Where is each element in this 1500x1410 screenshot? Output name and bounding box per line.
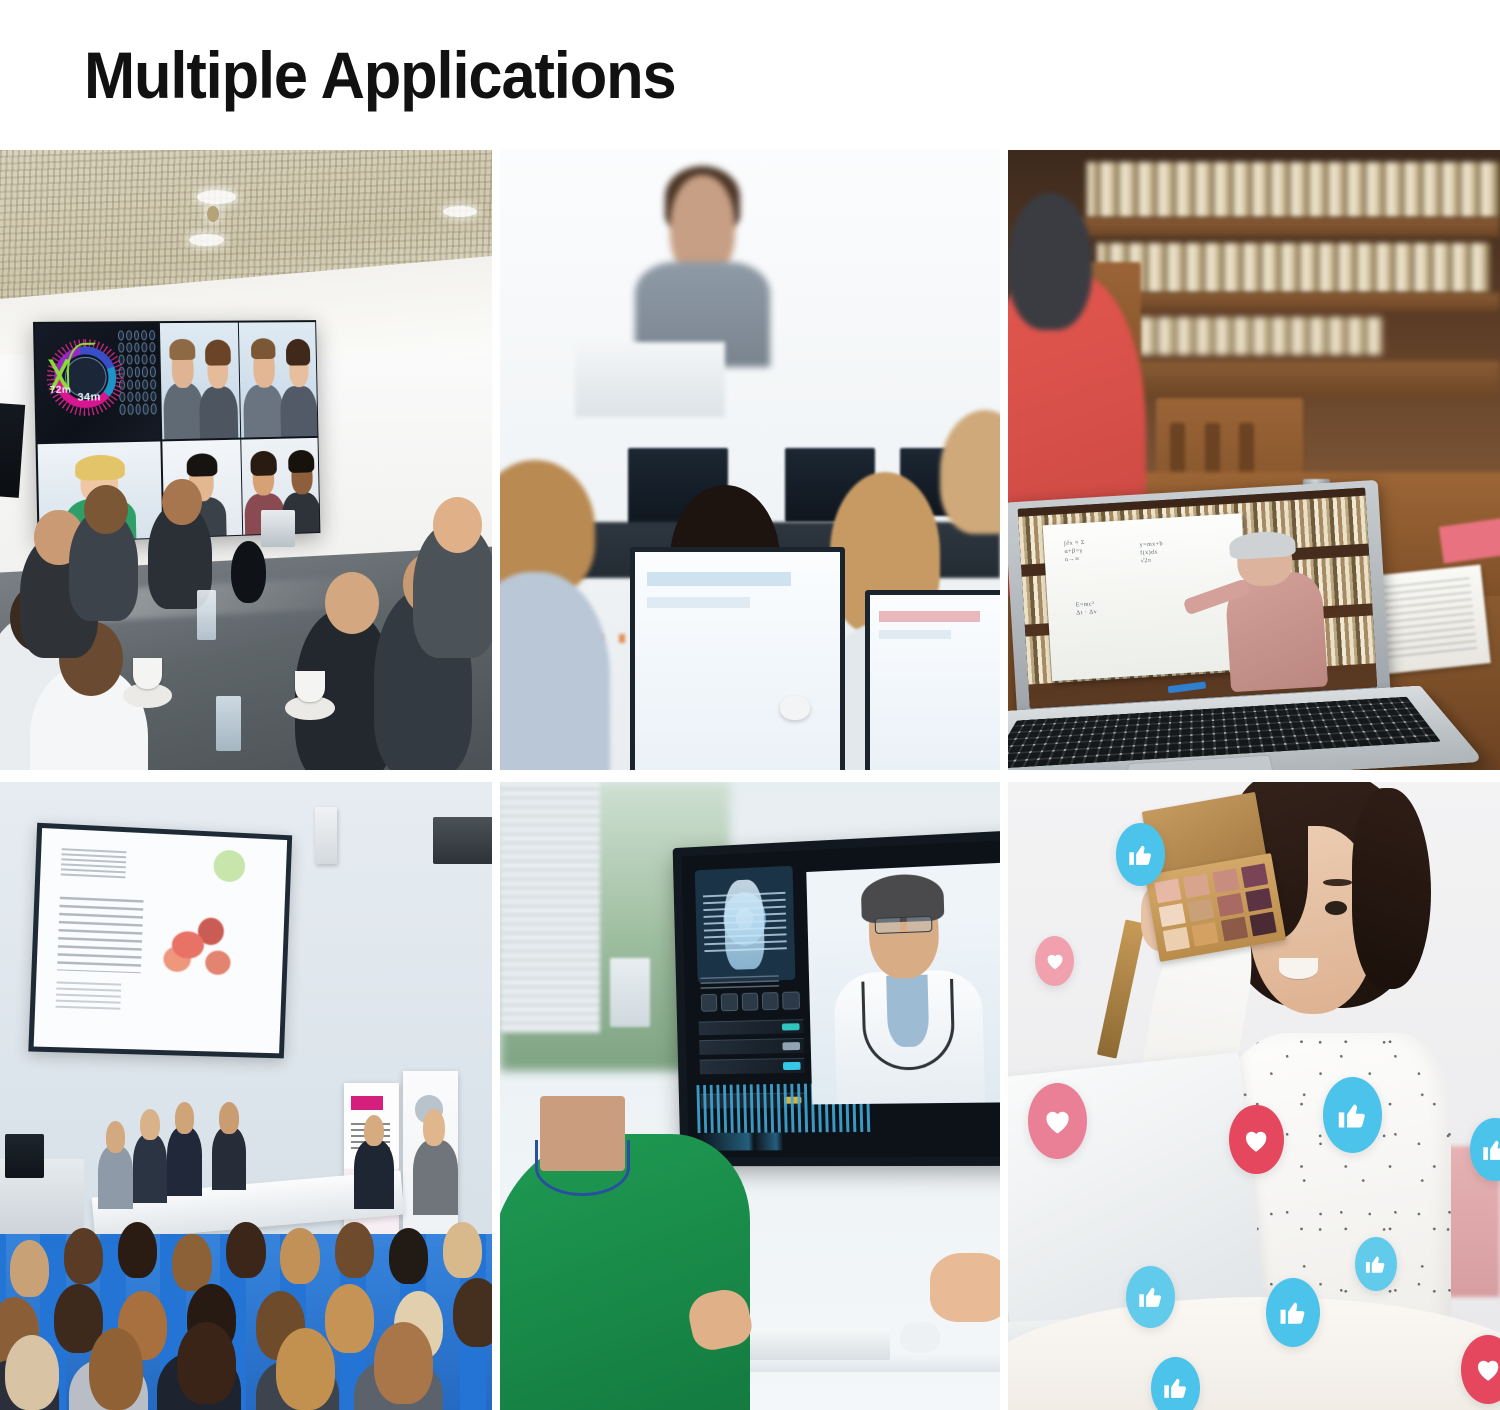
- projection-screen: [29, 823, 293, 1059]
- ceiling-projector: [433, 817, 492, 864]
- library-student-head: [1008, 193, 1092, 329]
- participant-tile: [239, 321, 317, 437]
- table-microphone: [261, 510, 295, 547]
- thumbs-up-reaction-icon: [1116, 823, 1165, 886]
- audience-head: [335, 1222, 374, 1279]
- panelist-head: [364, 1115, 384, 1146]
- whiteboard-equations: y=mx+bf(x)dx√2π: [1139, 540, 1164, 566]
- attendee-head: [162, 479, 201, 526]
- audience-head: [443, 1222, 482, 1279]
- contrast-tool-icon[interactable]: [721, 993, 738, 1012]
- thumbs-up-reaction-icon: [1126, 1266, 1175, 1329]
- coffee-cup: [295, 671, 325, 702]
- thumbs-up-reaction-icon: [1323, 1077, 1382, 1152]
- dashboard-indicator-grid: [118, 329, 156, 414]
- laptop-screen: ∫∂x ≈ Σα+β=γn→∞ y=mx+bf(x)dx√2π E=mc²Δt …: [1018, 488, 1377, 708]
- doctor-video-feed: [806, 861, 1000, 1104]
- laptop[interactable]: ∫∂x ≈ Σα+β=γn→∞ y=mx+bf(x)dx√2π E=mc²Δt …: [1008, 480, 1396, 770]
- stethoscope-icon: [862, 979, 955, 1071]
- gallery-cell-lecture-hall-presentation[interactable]: University lecture hall with a projected…: [0, 782, 492, 1410]
- vitals-row: [699, 1038, 804, 1055]
- panelist-head: [175, 1102, 195, 1133]
- eyeshadow-pan: [1249, 911, 1276, 936]
- clinician-hand: [930, 1253, 1000, 1322]
- screen-content-line: [879, 630, 952, 639]
- whiteboard-equations: ∫∂x ≈ Σα+β=γn→∞: [1064, 539, 1086, 565]
- screen-toolbar: [647, 572, 791, 586]
- audience-head: [177, 1322, 236, 1404]
- library-scene: ∫∂x ≈ Σα+β=γn→∞ y=mx+bf(x)dx√2π E=mc²Δt …: [1008, 150, 1500, 770]
- slide-body-text: [57, 897, 144, 974]
- eyeshadow-pan: [1154, 879, 1181, 904]
- measure-tool-icon[interactable]: [741, 992, 758, 1011]
- dashboard-metric-secondary: 72m: [50, 384, 72, 396]
- thumbs-up-reaction-icon: [1151, 1357, 1200, 1410]
- water-glass: [197, 590, 217, 640]
- bookshelf-books: [1097, 243, 1491, 293]
- classroom-scene: [500, 150, 1000, 770]
- audience-head: [172, 1234, 211, 1291]
- eyeshadow-pan: [1158, 903, 1185, 928]
- gallery-cell-boardroom-video-conference[interactable]: 72m 34m: [0, 150, 492, 770]
- panelist-body: [98, 1146, 132, 1209]
- telemedicine-scene: [500, 782, 1000, 1410]
- student-monitor-screen: [630, 547, 845, 770]
- laptop-lid: ∫∂x ≈ Σα+β=γn→∞ y=mx+bf(x)dx√2π E=mc²Δt …: [1008, 480, 1390, 717]
- lectern-monitor: [5, 1134, 44, 1178]
- eyeshadow-pan: [1162, 927, 1189, 952]
- gallery-cell-computer-training-classroom[interactable]: Computer training classroom where studen…: [500, 150, 1000, 770]
- rotate-tool-icon[interactable]: [762, 991, 779, 1010]
- heart-reaction-icon: [1229, 1105, 1283, 1174]
- chest-xray-image: [695, 866, 796, 982]
- attendee-head: [84, 485, 128, 535]
- eyeshadow-pan: [1216, 892, 1243, 917]
- boardroom-scene: 72m 34m: [0, 150, 492, 770]
- ceiling-light-icon: [443, 206, 477, 217]
- attendee-head: [325, 572, 379, 634]
- panelist-body: [167, 1127, 201, 1196]
- eyeshadow-pan: [1241, 863, 1268, 888]
- ceiling-light-icon: [189, 234, 223, 246]
- influencer-hair-side: [1352, 788, 1431, 989]
- more-tool-icon[interactable]: [783, 991, 800, 1010]
- whiteboard-equations: E=mc²Δt · Δv: [1075, 600, 1097, 617]
- ceiling-light-icon: [197, 190, 236, 204]
- panelist-head: [219, 1102, 239, 1133]
- dashboard-metric-primary: 34m: [77, 391, 101, 404]
- window-blinds: [500, 782, 600, 1033]
- audience-head: [89, 1328, 143, 1410]
- participant-tile: [160, 322, 240, 440]
- audience-head: [118, 1222, 157, 1279]
- eyeshadow-pan: [1245, 887, 1272, 912]
- audience-head: [325, 1284, 374, 1353]
- clinic-monitor[interactable]: [673, 829, 1000, 1165]
- audience-head: [374, 1322, 433, 1404]
- panelist-body: [413, 1140, 457, 1215]
- audience-head: [5, 1335, 59, 1410]
- bookshelf: [1077, 218, 1500, 237]
- gallery-cell-telemedicine-consultation[interactable]: Clinician in green scrubs on a video con…: [500, 782, 1000, 1410]
- page-header: Multiple Applications: [0, 0, 1500, 150]
- vitals-value-badge: [783, 1062, 800, 1070]
- vitals-row: [698, 1018, 803, 1035]
- thumbs-up-reaction-icon: [1355, 1237, 1397, 1290]
- audience-head: [276, 1328, 335, 1410]
- lectern: [575, 342, 725, 416]
- audience-head: [10, 1240, 49, 1297]
- computer-mouse: [780, 696, 810, 721]
- vitals-value-badge: [783, 1042, 800, 1050]
- computer-mouse[interactable]: [900, 1322, 940, 1353]
- heart-reaction-icon: [1028, 1083, 1087, 1158]
- slide-accent-circle: [214, 849, 247, 882]
- slide-logo: [61, 849, 127, 880]
- pen-holder: [610, 958, 650, 1027]
- doctor-glasses: [874, 915, 932, 934]
- slide-footnote-text: [56, 982, 122, 1010]
- gallery-cell-library-remote-lecture[interactable]: ∫∂x ≈ Σα+β=γn→∞ y=mx+bf(x)dx√2π E=mc²Δt …: [1008, 150, 1500, 770]
- eyeshadow-pan: [1191, 922, 1218, 947]
- influencer-scene: [1008, 782, 1500, 1410]
- application-gallery-grid: 72m 34m: [0, 150, 1500, 1410]
- attendee-head: [433, 497, 482, 553]
- bookshelf-books: [1126, 317, 1382, 354]
- panelist-body: [133, 1134, 167, 1203]
- ecg-trace: [698, 1131, 871, 1150]
- panelist-head: [106, 1121, 126, 1152]
- table-speakerphone: [231, 541, 265, 603]
- student-monitor-screen: [865, 590, 1000, 770]
- zoom-tool-icon[interactable]: [701, 993, 718, 1012]
- eyeshadow-pan: [1187, 898, 1214, 923]
- audience-head: [389, 1228, 428, 1285]
- lecture-hall-scene: [0, 782, 492, 1410]
- imaging-toolbar[interactable]: [701, 991, 800, 1012]
- panelist-head: [140, 1109, 160, 1140]
- screen-content-line: [647, 597, 750, 608]
- audience-head: [226, 1222, 265, 1279]
- doctor-hair: [861, 872, 945, 923]
- vitals-row: [699, 1058, 804, 1074]
- vitals-value-badge: [782, 1022, 799, 1030]
- gallery-cell-beauty-influencer-livestream[interactable]: Beauty influencer livestreaming an eyesh…: [1008, 782, 1500, 1410]
- slide-illustration: [146, 892, 252, 999]
- screen-toolbar: [879, 611, 981, 622]
- audience-head: [280, 1228, 319, 1285]
- bookshelf: [1087, 293, 1500, 312]
- water-glass: [216, 696, 241, 752]
- video-wall-dashboard-tile: 72m 34m: [34, 322, 160, 442]
- coffee-cup: [133, 658, 163, 689]
- panelist-head: [423, 1109, 445, 1147]
- audience-head: [64, 1228, 103, 1285]
- eyeshadow-pan: [1183, 874, 1210, 899]
- eyeshadow-pan: [1212, 868, 1239, 893]
- bookshelf-books: [1087, 162, 1500, 218]
- eyeshadow-pan: [1220, 916, 1247, 941]
- panelist-body: [354, 1140, 393, 1209]
- page-title: Multiple Applications: [84, 42, 676, 108]
- audience-head: [453, 1278, 492, 1347]
- wall-speaker: [315, 807, 337, 864]
- patient-metadata-text: [700, 975, 779, 989]
- panelist-body: [212, 1127, 246, 1190]
- influencer-smile: [1279, 958, 1318, 980]
